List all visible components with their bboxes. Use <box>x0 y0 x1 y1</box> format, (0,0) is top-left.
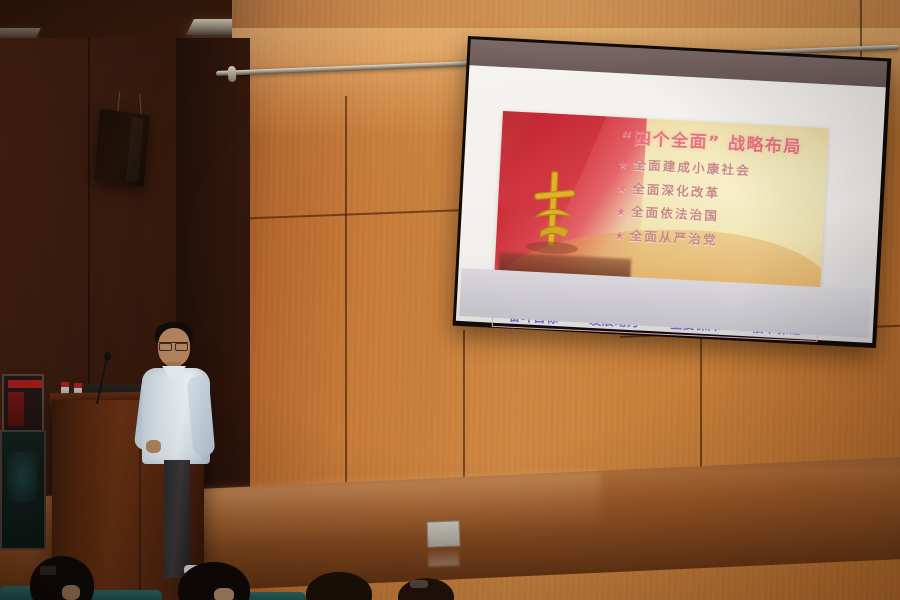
star-icon: ★ <box>617 182 630 196</box>
presenter-legs <box>164 460 190 578</box>
star-icon: ★ <box>616 205 629 219</box>
audience-face <box>62 585 80 600</box>
lecture-hall-photo: “四个全面” 战略布局 ★全面建成小康社会 ★全面深化改革 ★全面依法治国 ★全… <box>0 0 900 600</box>
wall-outlet-plate-reflection <box>428 547 460 566</box>
slide-bullet-text: 全面建成小康社会 <box>633 157 751 178</box>
wall-seam-vertical <box>345 96 347 536</box>
slide-bullet-text: 全面深化改革 <box>632 180 721 200</box>
hammer-sickle-emblem-icon <box>522 164 587 255</box>
presenter-hand <box>146 440 161 453</box>
bottle-cap <box>74 383 82 388</box>
wall-outlet-plate <box>427 520 461 547</box>
star-icon: ★ <box>614 229 627 243</box>
fire-cabinet-sign <box>8 392 24 426</box>
wall-speaker <box>94 109 150 188</box>
audience-chair <box>86 590 162 600</box>
microphone-icon <box>104 352 111 361</box>
notice-board-glow <box>7 452 37 502</box>
slide-bullet-list: ★全面建成小康社会 ★全面深化改革 ★全面依法治国 ★全面从严治党 <box>614 153 829 258</box>
slide-image: “四个全面” 战略布局 ★全面建成小康社会 ★全面深化改革 ★全面依法治国 ★全… <box>494 111 828 293</box>
hair-clip-icon <box>410 580 428 588</box>
notice-board <box>0 430 46 550</box>
screen-surface: “四个全面” 战略布局 ★全面建成小康社会 ★全面深化改革 ★全面依法治国 ★全… <box>456 65 886 343</box>
glasses-icon <box>159 342 188 348</box>
bottle-cap <box>61 382 69 387</box>
audience-face <box>214 588 234 600</box>
star-icon: ★ <box>618 158 631 172</box>
slide-bullet-text: 全面依法治国 <box>631 204 720 224</box>
presenter <box>140 320 232 580</box>
slide-bullet-text: 全面从严治党 <box>629 227 718 247</box>
fire-cabinet-label <box>8 380 42 388</box>
hair-clip-icon <box>40 566 56 575</box>
projection-screen: “四个全面” 战略布局 ★全面建成小康社会 ★全面深化改革 ★全面依法治国 ★全… <box>453 36 892 348</box>
rail-bracket <box>228 66 237 82</box>
